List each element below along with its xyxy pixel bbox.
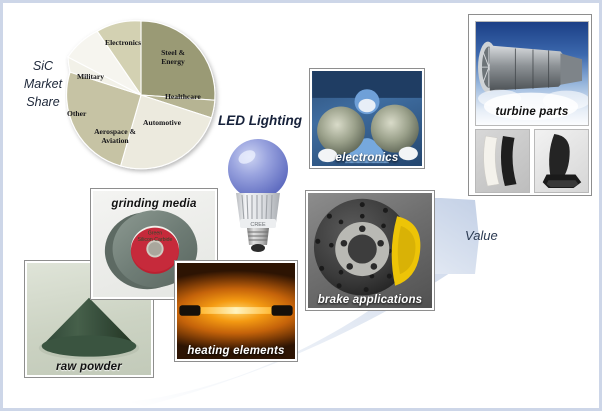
pie-title-line-a: SiC xyxy=(33,59,53,73)
slice-label-healthcare: Healthcare xyxy=(165,93,201,102)
powder-base xyxy=(42,335,137,356)
slice-label-automotive: Automotive xyxy=(143,119,181,128)
led-lighting-title: LED Lighting xyxy=(218,113,302,128)
heating-elements-photo: heating elements xyxy=(175,261,297,361)
turbine-parts-group: turbine parts xyxy=(469,15,591,195)
led-brand-text: CREE xyxy=(250,222,266,228)
worker-mask xyxy=(358,99,375,112)
rod-terminal-left xyxy=(179,305,200,316)
brake-applications-caption: brake applications xyxy=(308,293,432,308)
pie-chart-title: 7 SiC Market Share xyxy=(17,58,69,111)
wafer-right xyxy=(371,105,419,153)
figure-canvas: Value 7 SiC Market Share xyxy=(0,0,602,411)
electronics-caption: electronics xyxy=(312,151,422,166)
slice-label-military: Military xyxy=(77,73,104,82)
slice-label-aerospace-aviation: Aerospace & Aviation xyxy=(85,128,145,146)
engine-nozzle xyxy=(560,53,582,84)
heating-elements-caption: heating elements xyxy=(177,344,295,359)
grinding-media-caption: grinding media xyxy=(93,197,215,212)
wheel-label-line2: Silicon Carbide xyxy=(138,237,173,243)
raw-powder-caption: raw powder xyxy=(27,360,151,375)
value-label: Value xyxy=(465,228,498,243)
turbine-parts-caption: turbine parts xyxy=(475,105,589,193)
sic-market-share-pie-chart: Electronics Military Other Aerospace & A… xyxy=(65,11,223,179)
slice-label-steel-energy: Steel & Energy xyxy=(151,49,195,67)
led-globe xyxy=(228,139,288,199)
slice-label-other: Other xyxy=(67,110,86,119)
wheel-label-line1: Green xyxy=(148,230,163,236)
electronics-photo: electronics xyxy=(310,69,424,168)
brake-applications-photo: brake applications xyxy=(306,191,434,310)
wafer-left xyxy=(317,107,365,155)
led-bulb-image: CREE xyxy=(221,131,295,256)
slice-label-electronics: Electronics xyxy=(105,39,141,48)
engine-body xyxy=(490,46,570,91)
brake-rotor-graphic xyxy=(308,193,432,308)
rotor-hub-bore xyxy=(348,235,377,264)
pie-title-line-b: Market xyxy=(24,77,62,91)
pie-title-line-c: Share xyxy=(26,95,59,109)
wheel-bore-inner xyxy=(148,242,161,255)
led-contact xyxy=(251,244,265,252)
rod-terminal-right xyxy=(272,305,293,316)
